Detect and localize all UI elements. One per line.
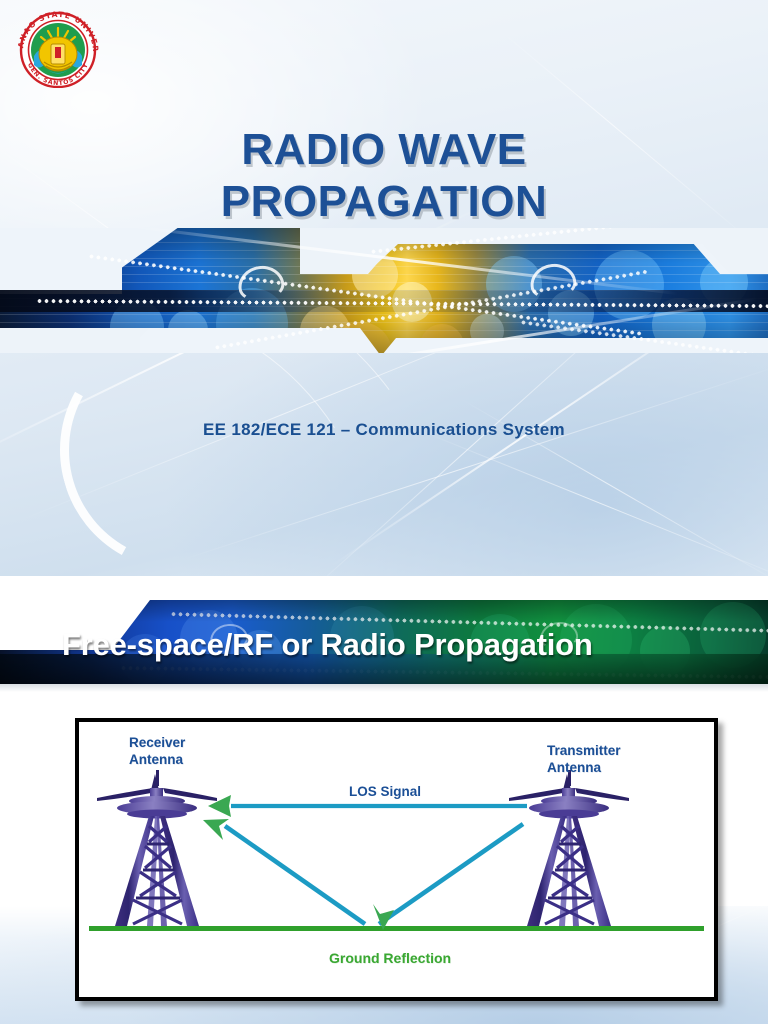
slide-title: MINDANAO STATE UNIVERSITY GEN. SANTOS CI… — [0, 0, 768, 576]
course-subtitle: EE 182/ECE 121 – Communications System — [0, 420, 768, 440]
transmitter-label-line1: Transmitter — [547, 743, 621, 758]
receiver-label-line1: Receiver — [129, 735, 185, 750]
receiver-tower — [97, 770, 217, 926]
decorative-banner — [0, 228, 768, 353]
banner-notch — [0, 328, 140, 353]
section-header-banner: Free-space/RF or Radio Propagation — [0, 600, 768, 684]
transmitter-label-line2: Antenna — [547, 760, 601, 775]
banner-notch — [0, 228, 122, 294]
title-line-1: RADIO WAVE — [0, 124, 768, 176]
radio-propagation-diagram: Receiver Antenna Transmitter Antenna LOS… — [75, 718, 718, 1001]
transmitter-tower — [509, 770, 629, 926]
page-title: RADIO WAVE PROPAGATION — [0, 124, 768, 228]
los-signal-label: LOS Signal — [349, 784, 421, 799]
reflection-arrowhead-receiver — [203, 819, 229, 840]
reflection-down-line — [379, 824, 523, 924]
reflection-up-line — [225, 826, 365, 924]
presentation-page: MINDANAO STATE UNIVERSITY GEN. SANTOS CI… — [0, 0, 768, 1024]
university-logo: MINDANAO STATE UNIVERSITY GEN. SANTOS CI… — [10, 6, 106, 88]
header-shelf — [0, 684, 768, 692]
ground-reflection-label: Ground Reflection — [329, 950, 451, 966]
receiver-label-line2: Antenna — [129, 752, 183, 767]
receiver-antenna-label: Receiver Antenna — [129, 734, 185, 768]
title-line-2: PROPAGATION — [0, 176, 768, 228]
ground-line — [89, 926, 704, 931]
section-title: Free-space/RF or Radio Propagation — [62, 627, 768, 663]
transmitter-antenna-label: Transmitter Antenna — [547, 742, 621, 776]
bg-streak — [420, 430, 768, 576]
